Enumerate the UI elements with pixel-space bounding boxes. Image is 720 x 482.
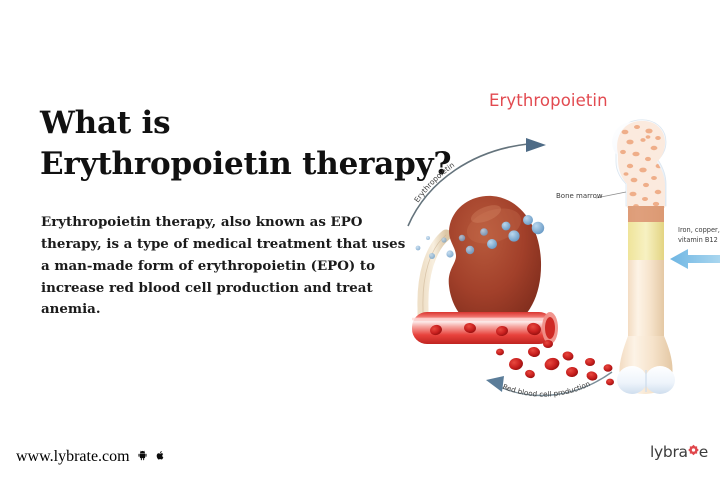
bone-marrow-label: Bone marrow — [556, 192, 603, 200]
nutrient-label-line-2: vitamin B12 — [678, 236, 718, 244]
rbc-production-label: Red blood cell production — [501, 379, 591, 399]
android-icon[interactable] — [137, 448, 148, 466]
apple-icon[interactable] — [155, 448, 165, 466]
page-title-line-1: What is — [40, 105, 170, 141]
erythropoietin-arrow-label: Erythropoietin — [412, 160, 456, 204]
femur-bone-illustration — [610, 116, 675, 394]
footer-left: www.lybrate.com — [16, 448, 165, 466]
footer-url[interactable]: www.lybrate.com — [16, 448, 130, 466]
blood-vessel-illustration — [412, 312, 558, 344]
lybrate-logo-text-after: e — [699, 443, 708, 461]
nutrient-label-line-1: Iron, copper, — [678, 226, 720, 234]
erythropoietin-diagram: Erythropoietin — [400, 80, 720, 420]
floating-red-blood-cells — [496, 340, 614, 385]
bone-marrow-label-group: Bone marrow — [556, 192, 626, 200]
kidney-illustration — [423, 196, 541, 330]
rbc-production-group: Red blood cell production — [486, 340, 614, 399]
left-arrow-icon — [670, 249, 720, 269]
lybrate-logo[interactable]: lybra e — [650, 443, 708, 461]
nutrient-arrow-group: Iron, copper, vitamin B12 — [670, 226, 720, 269]
lybrate-logo-text-before: lybra — [650, 443, 688, 461]
infographic-page: What is Erythropoietin therapy? Erythrop… — [0, 0, 720, 482]
body-paragraph: Erythropoietin therapy, also known as EP… — [41, 212, 413, 321]
